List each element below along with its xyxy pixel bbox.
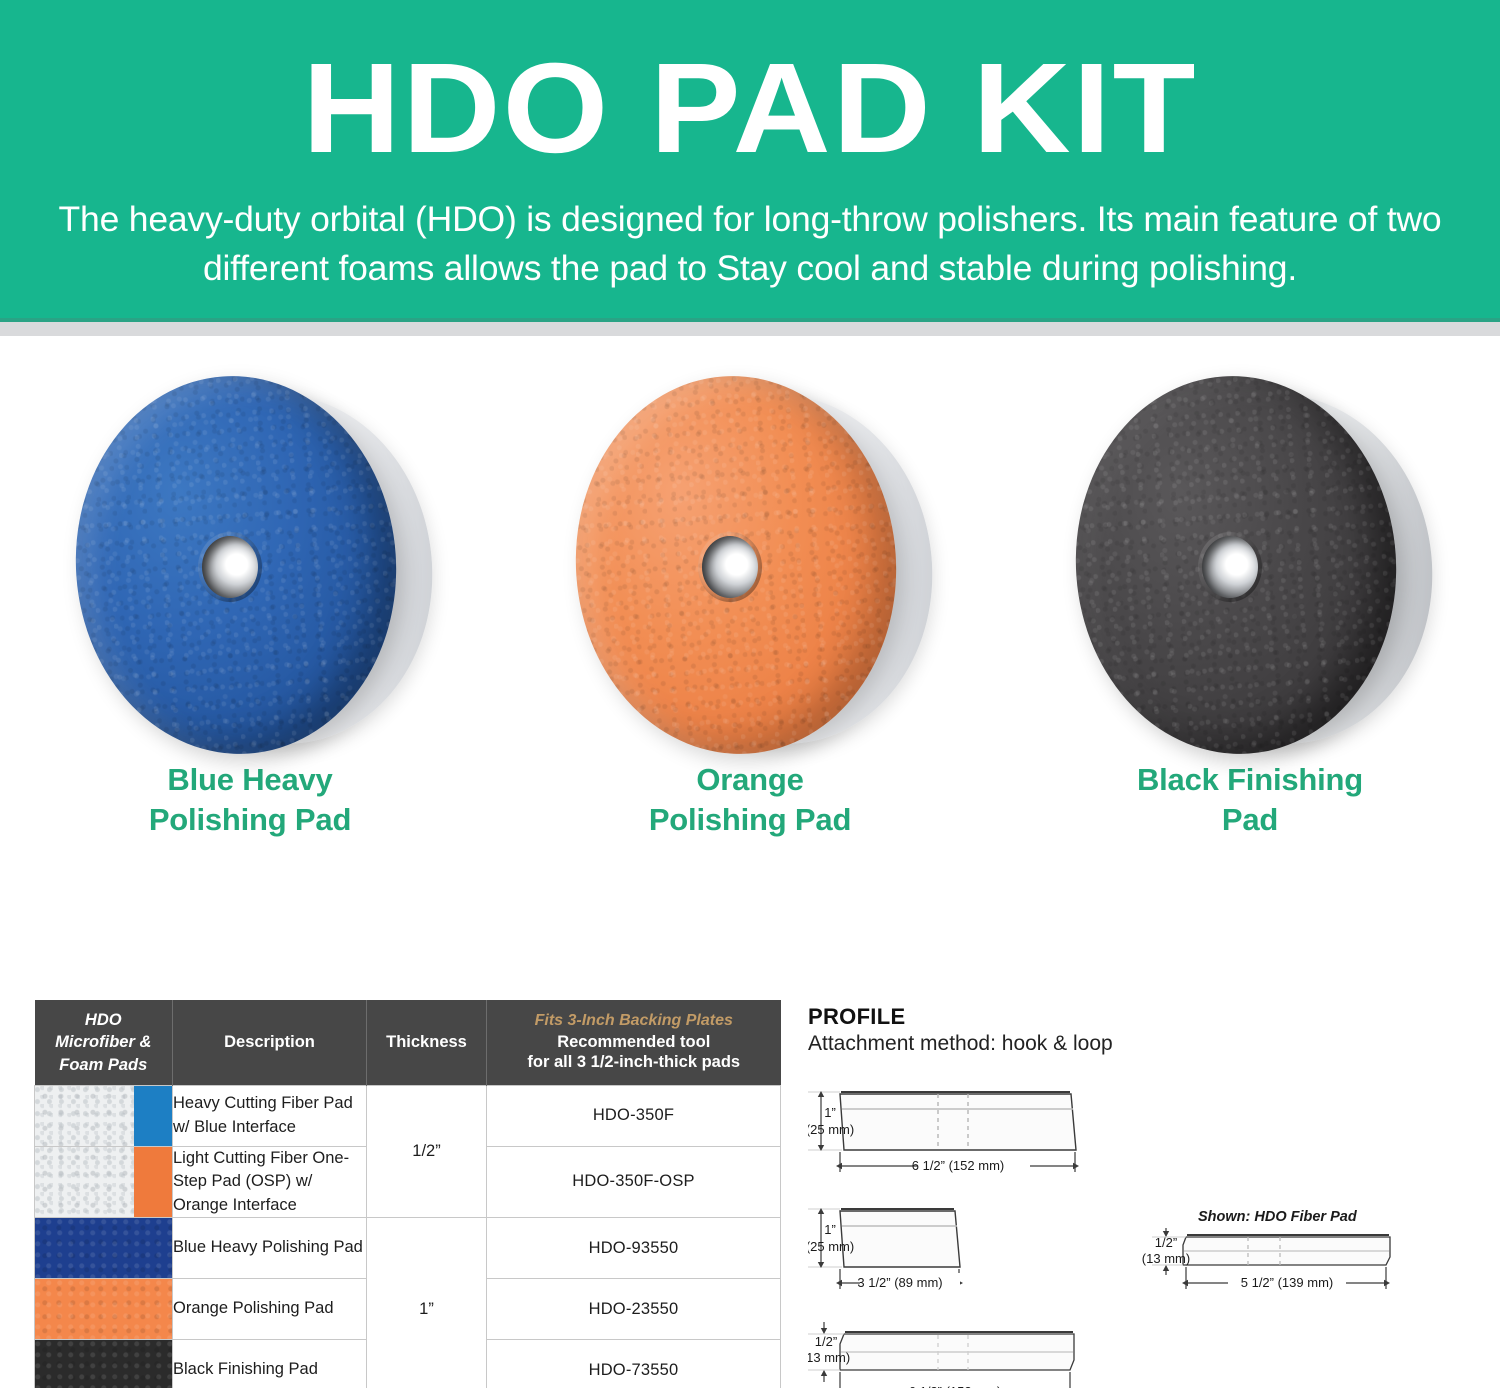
- profile-diagram-row-2: 1” (25 mm) 3 1/2” (89 mm) Shown: HDO Fib…: [808, 1195, 1488, 1307]
- table-row: Blue Heavy Polishing Pad 1” HDO-93550: [35, 1218, 781, 1279]
- cell-thickness-half: 1/2”: [367, 1085, 487, 1217]
- profile-note: Shown: HDO Fiber Pad: [1198, 1209, 1358, 1225]
- dim-width-label: 6 1/2” (152 mm): [909, 1384, 1001, 1388]
- table-row: Heavy Cutting Fiber Pad w/ Blue Interfac…: [35, 1085, 781, 1146]
- th-thickness: Thickness: [367, 1000, 487, 1085]
- dim-height-mm: (25 mm): [808, 1122, 854, 1137]
- profile-diagram-3half-1inch: 1” (25 mm) 3 1/2” (89 mm): [808, 1208, 963, 1291]
- infographic-page: HDO PAD KIT The heavy-duty orbital (HDO)…: [0, 0, 1500, 1388]
- profile-diagram-6half-half-inch: 1/2” (13 mm) 6 1/2” (152 mm): [808, 1312, 1488, 1388]
- cell-thickness-one: 1”: [367, 1218, 487, 1388]
- cell-description: Black Finishing Pad: [173, 1340, 367, 1388]
- center-hole: [702, 536, 758, 598]
- profile-diagrams: 1” (25 mm) 6 1/2” (152 mm): [808, 1078, 1488, 1388]
- pad-label-blue: Blue Heavy Polishing Pad: [149, 760, 351, 839]
- pads-gallery: Blue Heavy Polishing Pad Orange Polishin…: [0, 346, 1500, 926]
- pad-image-orange: [570, 346, 930, 766]
- cell-tool: HDO-350F-OSP: [487, 1146, 781, 1217]
- swatch-cell-black: [35, 1340, 173, 1388]
- dim-height-label: 1/2”: [1155, 1235, 1177, 1250]
- center-hole: [1202, 536, 1258, 598]
- dim-height-mm: (13 mm): [808, 1350, 850, 1365]
- cell-description: Blue Heavy Polishing Pad: [173, 1218, 367, 1279]
- center-hole: [202, 536, 258, 598]
- cell-tool: HDO-23550: [487, 1279, 781, 1340]
- pad-card-blue: Blue Heavy Polishing Pad: [0, 346, 500, 926]
- cell-description: Light Cutting Fiber One-Step Pad (OSP) w…: [173, 1146, 367, 1217]
- dim-width-label: 5 1/2” (139 mm): [1241, 1275, 1333, 1290]
- banner-subtitle: The heavy-duty orbital (HDO) is designed…: [42, 175, 1458, 293]
- banner-gray-strip: [0, 322, 1500, 336]
- profile-subtitle: Attachment method: hook & loop: [808, 1032, 1488, 1056]
- spec-table-wrap: HDO Microfiber & Foam Pads Description T…: [34, 1000, 780, 1380]
- th-swatch: HDO Microfiber & Foam Pads: [35, 1000, 173, 1085]
- swatch-cell-fiber-blue: [35, 1085, 173, 1146]
- swatch-cell-fiber-orange: [35, 1146, 173, 1217]
- pad-card-black: Black Finishing Pad: [1000, 346, 1500, 926]
- table-header-row: HDO Microfiber & Foam Pads Description T…: [35, 1000, 781, 1085]
- dim-width-label: 3 1/2” (89 mm): [857, 1275, 942, 1290]
- dim-height-label: 1”: [824, 1105, 836, 1120]
- dim-width-label: 6 1/2” (152 mm): [912, 1158, 1004, 1173]
- cell-tool: HDO-350F: [487, 1085, 781, 1146]
- swatch-cell-orange: [35, 1279, 173, 1340]
- profile-diagram-6half-1inch: 1” (25 mm) 6 1/2” (152 mm): [808, 1078, 1488, 1190]
- header-banner: HDO PAD KIT The heavy-duty orbital (HDO)…: [0, 0, 1500, 322]
- pad-label-orange: Orange Polishing Pad: [649, 760, 851, 839]
- pad-image-blue: [70, 346, 430, 766]
- cell-tool: HDO-93550: [487, 1218, 781, 1279]
- dim-height-label: 1/2”: [815, 1334, 837, 1349]
- swatch-cell-blue: [35, 1218, 173, 1279]
- profile-section: PROFILE Attachment method: hook & loop: [808, 1004, 1488, 1380]
- cell-description: Orange Polishing Pad: [173, 1279, 367, 1340]
- page-title: HDO PAD KIT: [0, 0, 1500, 175]
- pad-image-black: [1070, 346, 1430, 766]
- profile-diagram-5half-half-inch: Shown: HDO Fiber Pad: [1142, 1209, 1390, 1291]
- th-description: Description: [173, 1000, 367, 1085]
- th-tool-main: Recommended tool for all 3 1/2-inch-thic…: [495, 1032, 773, 1073]
- th-tool: Fits 3-Inch Backing Plates Recommended t…: [487, 1000, 781, 1085]
- profile-title: PROFILE: [808, 1004, 1488, 1030]
- cell-description: Heavy Cutting Fiber Pad w/ Blue Interfac…: [173, 1085, 367, 1146]
- spec-table: HDO Microfiber & Foam Pads Description T…: [34, 1000, 781, 1388]
- pad-label-black: Black Finishing Pad: [1137, 760, 1363, 839]
- th-tool-gold: Fits 3-Inch Backing Plates: [495, 1012, 773, 1030]
- dim-height-mm: (25 mm): [808, 1239, 854, 1254]
- dim-height-label: 1”: [824, 1222, 836, 1237]
- cell-tool: HDO-73550: [487, 1340, 781, 1388]
- pad-card-orange: Orange Polishing Pad: [500, 346, 1000, 926]
- dim-height-mm: (13 mm): [1142, 1251, 1190, 1266]
